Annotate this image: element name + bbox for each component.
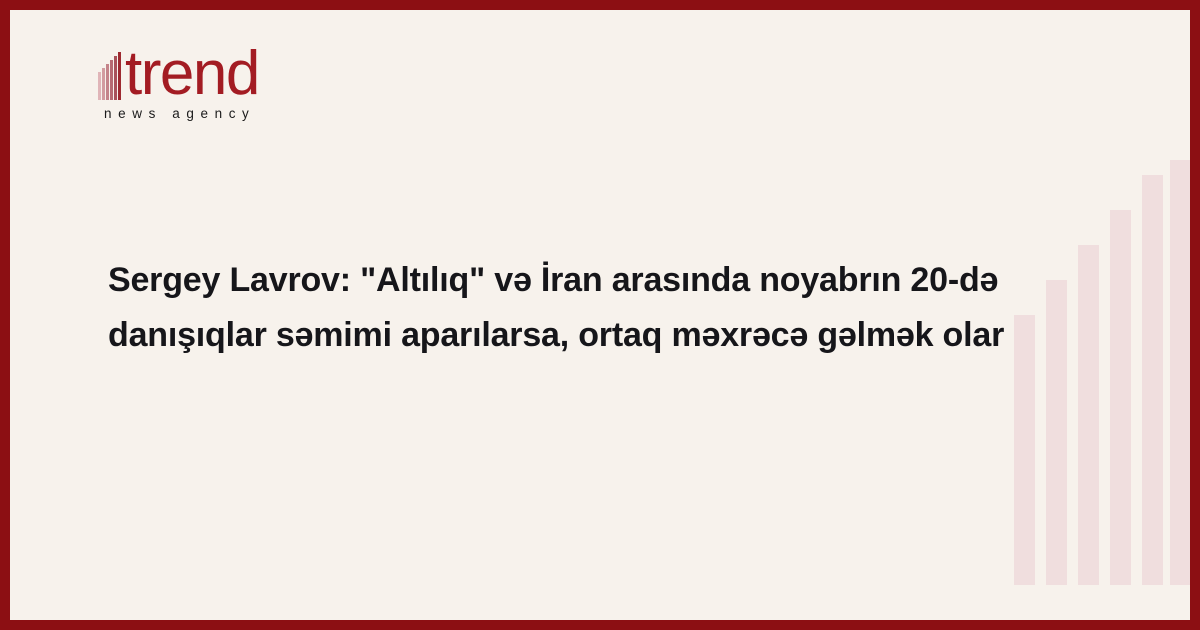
logo-tagline: news agency bbox=[104, 106, 398, 121]
logo-bar bbox=[114, 56, 117, 100]
logo-row: trend bbox=[98, 42, 398, 100]
watermark-bar bbox=[1170, 160, 1190, 585]
logo-bar bbox=[106, 64, 109, 100]
watermark-bar bbox=[1078, 245, 1099, 585]
logo-bar bbox=[102, 68, 105, 100]
logo-bar bbox=[118, 52, 121, 100]
logo-wordmark: trend bbox=[125, 49, 259, 100]
trend-bars-watermark bbox=[1000, 10, 1190, 620]
watermark-bar bbox=[1046, 280, 1067, 585]
watermark-bar bbox=[1014, 315, 1035, 585]
watermark-bar bbox=[1142, 175, 1163, 585]
page-title: Sergey Lavrov: "Altılıq" və İran arasınd… bbox=[108, 253, 1008, 363]
social-share-card: trend news agency Sergey Lavrov: "Altılı… bbox=[0, 0, 1200, 630]
logo-bar bbox=[98, 72, 101, 100]
card-inner-surface: trend news agency Sergey Lavrov: "Altılı… bbox=[10, 10, 1190, 620]
trend-bars-mark-icon bbox=[98, 48, 124, 100]
watermark-bar bbox=[1110, 210, 1131, 585]
logo-bar bbox=[110, 60, 113, 100]
trend-news-agency-logo[interactable]: trend news agency bbox=[98, 42, 398, 121]
